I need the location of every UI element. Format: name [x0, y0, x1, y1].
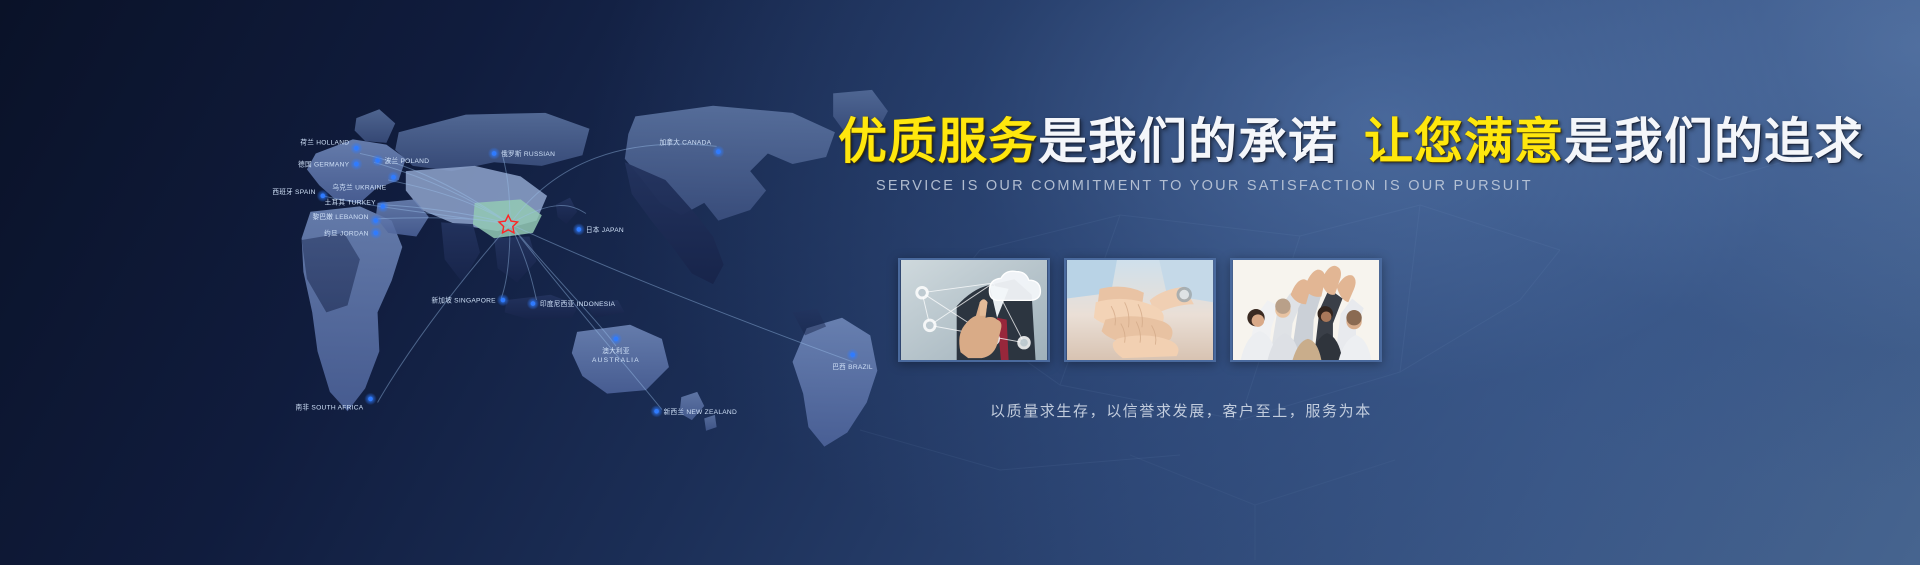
map-marker-brazil: 巴西 BRAZIL [832, 349, 873, 371]
bottom-tagline: 以质量求生存，以信誉求发展，客户至上，服务为本 [990, 400, 1372, 421]
map-label-turkey: 土耳其 TURKEY [325, 198, 376, 207]
map-label-japan: 日本 JAPAN [586, 225, 624, 234]
headline-segment-2: 是我们的承诺 [1038, 115, 1338, 169]
headline-segment-4: 是我们的追求 [1564, 115, 1864, 169]
world-map: 荷兰 HOLLAND 波兰 POLAND 德国 GERMANY [95, 20, 925, 490]
map-marker-ukraine: 乌克兰 UKRAINE [332, 171, 399, 192]
map-label-singapore: 新加坡 SINGAPORE [431, 296, 496, 305]
map-label-poland: 波兰 POLAND [385, 156, 430, 165]
page-title: 优质服务是我们的承诺让您满意是我们的追求 [838, 118, 1864, 167]
photo-strip [898, 258, 1382, 362]
map-marker-indonesia: 印度尼西亚 INDONESIA [527, 297, 616, 309]
service-banner: 荷兰 HOLLAND 波兰 POLAND 德国 GERMANY [0, 0, 1920, 565]
map-marker-south-africa: 南非 SOUTH AFRICA [296, 393, 377, 412]
map-marker-spain: 西班牙 SPAIN [272, 187, 329, 202]
map-marker-germany: 德国 GERMANY [298, 158, 362, 170]
map-label-ukraine: 乌克兰 UKRAINE [332, 183, 386, 192]
map-marker-singapore: 新加坡 SINGAPORE [431, 294, 509, 306]
photo-team-high-five[interactable] [1230, 258, 1382, 362]
map-marker-canada: 加拿大 CANADA [659, 138, 724, 158]
map-label-spain: 西班牙 SPAIN [272, 187, 315, 196]
map-label-new-zealand: 新西兰 NEW ZEALAND [664, 407, 737, 416]
cloud-network-touch-image [900, 260, 1048, 360]
map-marker-holland: 荷兰 HOLLAND [300, 138, 362, 155]
headline-segment-1: 优质服务 [838, 115, 1038, 169]
map-label-jordan: 约旦 JORDAN [324, 229, 369, 238]
map-marker-jordan: 约旦 JORDAN [324, 227, 382, 239]
map-label-south-africa: 南非 SOUTH AFRICA [296, 403, 364, 412]
map-label-australia-en: AUSTRALIA [592, 357, 640, 364]
headline-subtitle-english: SERVICE IS OUR COMMITMENT TO YOUR SATISF… [876, 178, 1533, 194]
photo-cloud-network-touch[interactable] [898, 258, 1050, 362]
map-label-canada: 加拿大 CANADA [659, 138, 711, 147]
map-label-indonesia: 印度尼西亚 INDONESIA [540, 299, 616, 308]
team-high-five-image [1232, 260, 1380, 360]
map-label-holland: 荷兰 HOLLAND [300, 138, 349, 147]
map-marker-australia: 澳大利亚 AUSTRALIA [592, 333, 640, 364]
map-label-germany: 德国 GERMANY [298, 160, 349, 169]
world-map-svg: 荷兰 HOLLAND 波兰 POLAND 德国 GERMANY [95, 20, 925, 490]
map-marker-new-zealand: 新西兰 NEW ZEALAND [650, 405, 737, 417]
map-route-arcs [323, 144, 853, 409]
map-marker-lebanon: 黎巴嫩 LEBANON [313, 212, 382, 227]
map-label-russia: 俄罗斯 RUSSIAN [501, 149, 555, 158]
map-marker-turkey: 土耳其 TURKEY [325, 198, 389, 213]
map-label-lebanon: 黎巴嫩 LEBANON [313, 212, 369, 221]
map-marker-poland: 波兰 POLAND [371, 154, 429, 166]
map-label-australia-cn: 澳大利亚 [602, 346, 630, 355]
headline-segment-3: 让您满意 [1364, 115, 1564, 169]
map-label-brazil: 巴西 BRAZIL [832, 363, 873, 371]
stacked-hands-image [1066, 260, 1214, 360]
map-markers: 荷兰 HOLLAND 波兰 POLAND 德国 GERMANY [272, 138, 873, 418]
photo-stacked-hands-team[interactable] [1064, 258, 1216, 362]
map-landmasses [302, 90, 888, 447]
map-marker-russia: 俄罗斯 RUSSIAN [488, 147, 555, 159]
map-marker-japan: 日本 JAPAN [573, 223, 624, 235]
map-hq-star-icon [499, 215, 518, 233]
